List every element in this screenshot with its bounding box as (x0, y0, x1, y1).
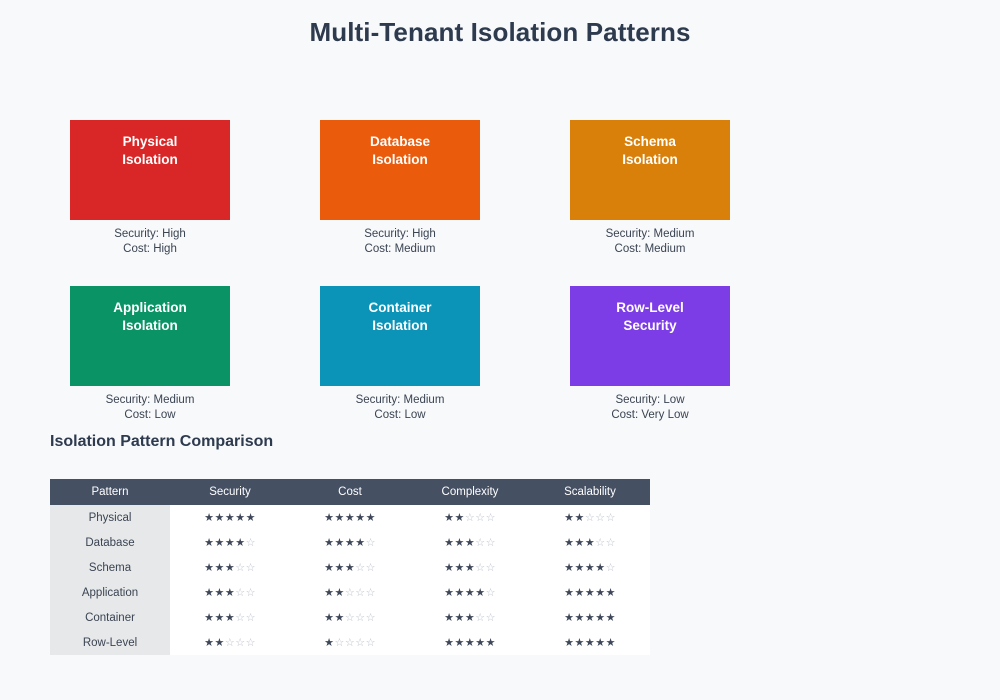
table-cell-security-rating: ★★★☆☆ (170, 555, 290, 580)
pattern-card-meta: Security: LowCost: Very Low (570, 386, 730, 423)
table-column-header[interactable]: Cost (290, 479, 410, 505)
pattern-card[interactable]: Row-Level SecuritySecurity: LowCost: Ver… (570, 286, 730, 423)
table-cell-complexity-rating: ★★★★☆ (410, 580, 530, 605)
table-cell-scalability-rating: ★★★★★ (530, 630, 650, 655)
star-rating-icon: ★★★☆☆ (564, 537, 616, 549)
pattern-card-title: Container Isolation (368, 299, 431, 335)
star-rating-icon: ★★☆☆☆ (204, 637, 256, 649)
table-cell-cost-rating: ★★★★★ (290, 505, 410, 530)
pattern-card-title: Database Isolation (370, 133, 430, 169)
pattern-card-title: Schema Isolation (622, 133, 678, 169)
star-rating-icon: ★★★★☆ (324, 537, 376, 549)
table-cell-pattern: Container (50, 605, 170, 630)
table-header: PatternSecurityCostComplexityScalability (50, 479, 650, 505)
pattern-card[interactable]: Schema IsolationSecurity: MediumCost: Me… (570, 120, 730, 257)
table-cell-complexity-rating: ★★☆☆☆ (410, 505, 530, 530)
pattern-card-title: Physical Isolation (122, 133, 178, 169)
pattern-card-cost-label: Cost: Low (70, 408, 230, 423)
pattern-card-title: Row-Level Security (616, 299, 684, 335)
table-cell-cost-rating: ★☆☆☆☆ (290, 630, 410, 655)
isolation-pattern-comparison-table: PatternSecurityCostComplexityScalability… (50, 479, 650, 655)
table-cell-scalability-rating: ★★★★★ (530, 605, 650, 630)
table-cell-cost-rating: ★★☆☆☆ (290, 580, 410, 605)
star-rating-icon: ★☆☆☆☆ (324, 637, 376, 649)
table-cell-scalability-rating: ★★☆☆☆ (530, 505, 650, 530)
table-cell-security-rating: ★★★★☆ (170, 530, 290, 555)
table-cell-security-rating: ★★★☆☆ (170, 580, 290, 605)
pattern-card-security-label: Security: High (320, 227, 480, 242)
page-title: Multi-Tenant Isolation Patterns (0, 0, 1000, 48)
table-cell-scalability-rating: ★★★☆☆ (530, 530, 650, 555)
table-row[interactable]: Physical★★★★★★★★★★★★☆☆☆★★☆☆☆ (50, 505, 650, 530)
pattern-card-meta: Security: MediumCost: Low (320, 386, 480, 423)
pattern-card-meta: Security: MediumCost: Medium (570, 220, 730, 257)
pattern-card[interactable]: Container IsolationSecurity: MediumCost:… (320, 286, 480, 423)
table-cell-complexity-rating: ★★★☆☆ (410, 530, 530, 555)
table-body: Physical★★★★★★★★★★★★☆☆☆★★☆☆☆Database★★★★… (50, 505, 650, 655)
table-cell-security-rating: ★★★★★ (170, 505, 290, 530)
pattern-card-cost-label: Cost: Very Low (570, 408, 730, 423)
table-cell-complexity-rating: ★★★☆☆ (410, 555, 530, 580)
table-cell-pattern: Physical (50, 505, 170, 530)
star-rating-icon: ★★☆☆☆ (324, 612, 376, 624)
star-rating-icon: ★★★★★ (564, 637, 616, 649)
star-rating-icon: ★★★★★ (564, 612, 616, 624)
star-rating-icon: ★★★☆☆ (204, 612, 256, 624)
isolation-pattern-card-grid: Physical IsolationSecurity: HighCost: Hi… (70, 120, 730, 423)
comparison-table-container: PatternSecurityCostComplexityScalability… (50, 479, 650, 655)
star-rating-icon: ★★★★★ (324, 512, 376, 524)
table-cell-cost-rating: ★★★★☆ (290, 530, 410, 555)
star-rating-icon: ★★★☆☆ (324, 562, 376, 574)
table-column-header[interactable]: Complexity (410, 479, 530, 505)
comparison-section-heading: Isolation Pattern Comparison (50, 433, 273, 451)
pattern-card-color-block[interactable]: Application Isolation (70, 286, 230, 386)
pattern-card-color-block[interactable]: Schema Isolation (570, 120, 730, 220)
table-cell-pattern: Database (50, 530, 170, 555)
table-cell-cost-rating: ★★★☆☆ (290, 555, 410, 580)
pattern-card-meta: Security: HighCost: Medium (320, 220, 480, 257)
pattern-card[interactable]: Application IsolationSecurity: MediumCos… (70, 286, 230, 423)
star-rating-icon: ★★★☆☆ (444, 562, 496, 574)
table-column-header[interactable]: Security (170, 479, 290, 505)
table-cell-scalability-rating: ★★★★★ (530, 580, 650, 605)
star-rating-icon: ★★★☆☆ (444, 612, 496, 624)
pattern-card-cost-label: Cost: High (70, 242, 230, 257)
star-rating-icon: ★★★★★ (204, 512, 256, 524)
star-rating-icon: ★★★★☆ (204, 537, 256, 549)
star-rating-icon: ★★★☆☆ (444, 537, 496, 549)
pattern-card-color-block[interactable]: Row-Level Security (570, 286, 730, 386)
pattern-card-meta: Security: MediumCost: Low (70, 386, 230, 423)
table-cell-pattern: Schema (50, 555, 170, 580)
table-row[interactable]: Schema★★★☆☆★★★☆☆★★★☆☆★★★★☆ (50, 555, 650, 580)
star-rating-icon: ★★★★☆ (564, 562, 616, 574)
table-row[interactable]: Database★★★★☆★★★★☆★★★☆☆★★★☆☆ (50, 530, 650, 555)
pattern-card-cost-label: Cost: Medium (320, 242, 480, 257)
table-cell-cost-rating: ★★☆☆☆ (290, 605, 410, 630)
star-rating-icon: ★★★☆☆ (204, 562, 256, 574)
table-row[interactable]: Container★★★☆☆★★☆☆☆★★★☆☆★★★★★ (50, 605, 650, 630)
pattern-card-color-block[interactable]: Database Isolation (320, 120, 480, 220)
star-rating-icon: ★★☆☆☆ (564, 512, 616, 524)
table-cell-complexity-rating: ★★★☆☆ (410, 605, 530, 630)
pattern-card-color-block[interactable]: Container Isolation (320, 286, 480, 386)
table-column-header[interactable]: Scalability (530, 479, 650, 505)
pattern-card-title: Application Isolation (113, 299, 187, 335)
star-rating-icon: ★★★★★ (444, 637, 496, 649)
table-cell-complexity-rating: ★★★★★ (410, 630, 530, 655)
pattern-card[interactable]: Physical IsolationSecurity: HighCost: Hi… (70, 120, 230, 257)
pattern-card-security-label: Security: Medium (70, 393, 230, 408)
star-rating-icon: ★★☆☆☆ (444, 512, 496, 524)
star-rating-icon: ★★☆☆☆ (324, 587, 376, 599)
star-rating-icon: ★★★★★ (564, 587, 616, 599)
pattern-card[interactable]: Database IsolationSecurity: HighCost: Me… (320, 120, 480, 257)
pattern-card-meta: Security: HighCost: High (70, 220, 230, 257)
table-cell-scalability-rating: ★★★★☆ (530, 555, 650, 580)
table-cell-security-rating: ★★★☆☆ (170, 605, 290, 630)
table-row[interactable]: Application★★★☆☆★★☆☆☆★★★★☆★★★★★ (50, 580, 650, 605)
pattern-card-cost-label: Cost: Low (320, 408, 480, 423)
table-column-header[interactable]: Pattern (50, 479, 170, 505)
table-cell-pattern: Application (50, 580, 170, 605)
pattern-card-cost-label: Cost: Medium (570, 242, 730, 257)
table-header-row: PatternSecurityCostComplexityScalability (50, 479, 650, 505)
pattern-card-security-label: Security: High (70, 227, 230, 242)
pattern-card-security-label: Security: Medium (570, 227, 730, 242)
table-cell-pattern: Row-Level (50, 630, 170, 655)
star-rating-icon: ★★★☆☆ (204, 587, 256, 599)
table-cell-security-rating: ★★☆☆☆ (170, 630, 290, 655)
pattern-card-security-label: Security: Low (570, 393, 730, 408)
star-rating-icon: ★★★★☆ (444, 587, 496, 599)
table-row[interactable]: Row-Level★★☆☆☆★☆☆☆☆★★★★★★★★★★ (50, 630, 650, 655)
pattern-card-security-label: Security: Medium (320, 393, 480, 408)
pattern-card-color-block[interactable]: Physical Isolation (70, 120, 230, 220)
